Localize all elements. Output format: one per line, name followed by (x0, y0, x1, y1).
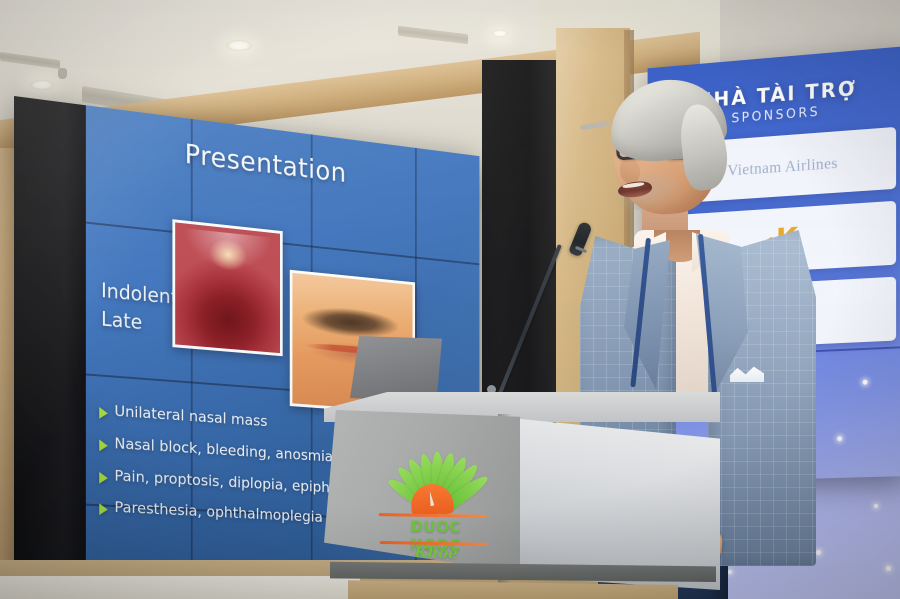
star-icon (837, 436, 842, 441)
ceiling-sensor-icon (58, 68, 67, 79)
video-wall-black-border (14, 96, 86, 584)
podium-side-panel (506, 414, 720, 590)
lectern-podium: DUOC NGOC Khoe (300, 392, 720, 599)
bullet-text: Unilateral nasal mass (114, 403, 267, 431)
star-icon (886, 566, 891, 571)
logo-script-text: Khoe (388, 543, 484, 563)
downlight-icon (226, 40, 252, 51)
star-icon (863, 380, 868, 385)
slide-title: Presentation (185, 137, 347, 188)
nasal-endoscopy-photo (172, 219, 282, 356)
eyebrow-left (580, 121, 610, 131)
slide-side-label: Indolent Late (101, 276, 178, 339)
bullet-arrow-icon (99, 504, 108, 516)
bullet-arrow-icon (99, 439, 108, 451)
downlight-icon (492, 30, 508, 37)
conference-leaf-logo: DUOC NGOC Khoe (374, 430, 490, 558)
leaf-fan-icon (374, 430, 489, 518)
downlight-icon (30, 80, 54, 90)
podium-front-panel: DUOC NGOC Khoe (324, 410, 520, 580)
star-icon (874, 504, 878, 508)
conference-photo-scene: NHÀ TÀI TRỢ SPONSORS Vietnam Airlines K … (0, 0, 900, 599)
bullet-arrow-icon (99, 407, 108, 419)
bullet-arrow-icon (99, 471, 108, 483)
bullet-text: Paresthesia, ophthalmoplegia (114, 500, 322, 527)
